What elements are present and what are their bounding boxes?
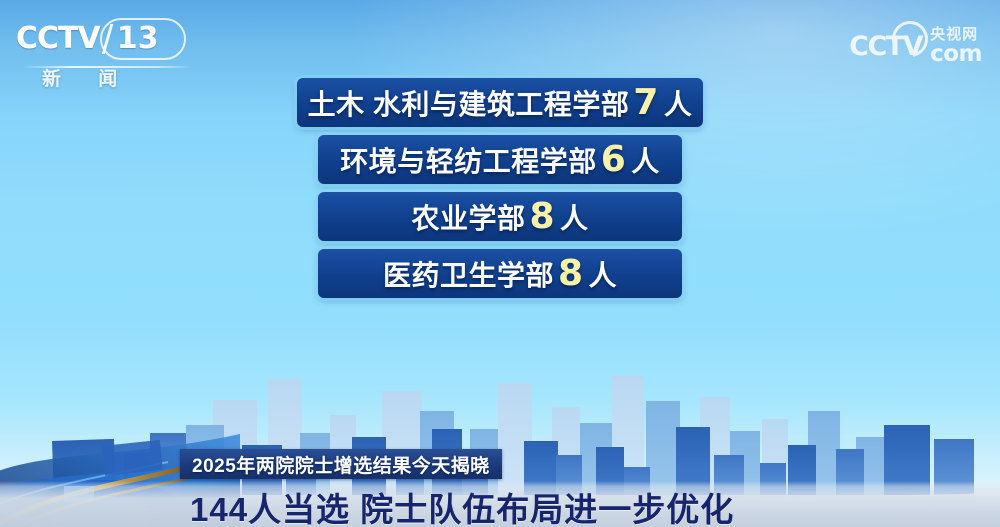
division-row: 环境与轻纺工程学部 6 人 — [318, 135, 682, 184]
division-unit: 人 — [589, 254, 618, 294]
broadcast-graphic: CCTV 13 新 闻 CCTV 央视网 com 土木 水利与建筑工程学部 7 … — [0, 0, 1000, 527]
division-text: 环境与轻纺工程学部 6 人 — [340, 140, 660, 180]
division-row: 农业学部 8 人 — [318, 192, 682, 241]
division-name: 环境与轻纺工程学部 — [340, 140, 597, 180]
division-row: 医药卫生学部 8 人 — [318, 249, 682, 298]
watermark-cn-text: 央视网 — [930, 27, 982, 42]
division-text: 农业学部 8 人 — [411, 197, 588, 237]
division-row: 土木 水利与建筑工程学部 7 人 — [297, 78, 703, 127]
logo-row: CCTV 13 — [16, 18, 196, 60]
division-unit: 人 — [664, 83, 693, 123]
division-unit: 人 — [631, 140, 660, 180]
lower-third-subtitle: 2025年两院院士增选结果今天揭晓 — [192, 451, 490, 478]
division-text: 医药卫生学部 8 人 — [383, 254, 617, 294]
watermark-left: CCTV — [849, 33, 922, 60]
division-name: 农业学部 — [411, 197, 525, 237]
logo-underline — [22, 66, 192, 68]
division-name: 土木 水利与建筑工程学部 — [308, 83, 630, 123]
lower-third-subtitle-bar: 2025年两院院士增选结果今天揭晓 — [180, 449, 502, 479]
division-count: 6 — [601, 142, 627, 178]
logo-cctv-text: CCTV — [16, 24, 100, 54]
division-count: 7 — [633, 85, 659, 121]
division-unit: 人 — [560, 197, 589, 237]
watermark-right: 央视网 com — [930, 27, 982, 66]
logo-number-wrap: 13 — [102, 19, 159, 59]
lower-third-headline: 144人当选 院士队伍布局进一步优化 — [190, 483, 734, 527]
watermark-domain: com — [930, 43, 982, 66]
division-count: 8 — [529, 199, 555, 235]
cctv-com-watermark: CCTV 央视网 com — [849, 22, 982, 70]
division-text: 土木 水利与建筑工程学部 7 人 — [308, 83, 693, 123]
division-count: 8 — [558, 256, 584, 292]
division-list: 土木 水利与建筑工程学部 7 人 环境与轻纺工程学部 6 人 农业学部 8 人 … — [0, 78, 1000, 306]
channel-logo: CCTV 13 新 闻 — [16, 18, 196, 80]
division-name: 医药卫生学部 — [383, 254, 554, 294]
